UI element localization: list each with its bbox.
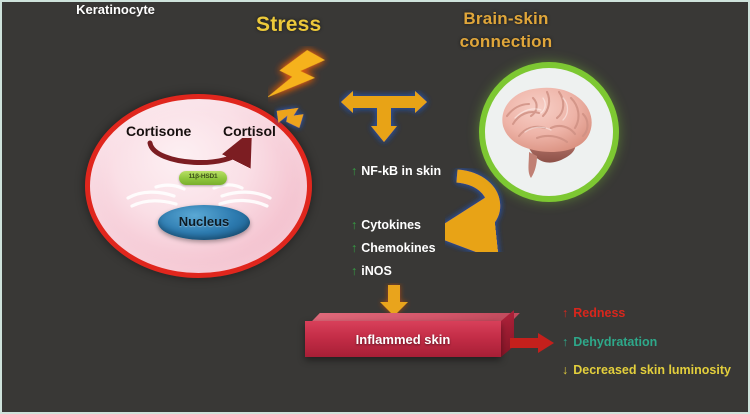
stress-title: Stress (256, 13, 321, 37)
outcome-redness: ↑Redness (562, 306, 625, 320)
hsd1-enzyme-label: 11β-HSD1 (179, 173, 227, 180)
brain-skin-connection-title: Brain-skin connection (426, 8, 586, 54)
cortisone-label: Cortisone (126, 123, 191, 139)
brain-skin-stress-diagram: Stress Brain-skin connection Cortisone C… (0, 0, 750, 414)
down-arrow-icon: ↓ (562, 363, 568, 377)
mediator-chemokines: ↑Chemokines (351, 241, 436, 255)
outcome-luminosity: ↓Decreased skin luminosity (562, 363, 731, 377)
up-arrow-icon: ↑ (351, 218, 357, 232)
up-arrow-icon: ↑ (562, 335, 568, 349)
up-arrow-icon: ↑ (351, 241, 357, 255)
mediator-chemokines-label: Chemokines (361, 241, 435, 255)
mediator-nfkb: ↑NF-kB in skin (351, 164, 441, 178)
brain-skin-connection-line1: Brain-skin (463, 9, 548, 28)
mediator-cytokines: ↑Cytokines (351, 218, 421, 232)
red-right-arrow-icon (510, 332, 556, 354)
t-shaped-tri-arrow-icon (339, 90, 435, 152)
mediator-nfkb-label: NF-kB in skin (361, 164, 441, 178)
mediator-inos-label: iNOS (361, 264, 392, 278)
outcome-redness-label: Redness (573, 306, 625, 320)
outcome-dehydration: ↑Dehydratation (562, 335, 657, 349)
mediator-inos: ↑iNOS (351, 264, 392, 278)
mediator-cytokines-label: Cytokines (361, 218, 421, 232)
keratinocyte-label: Keratinocyte (2, 2, 229, 17)
brain-icon (485, 68, 613, 196)
outcome-luminosity-label: Decreased skin luminosity (573, 363, 731, 377)
brain-medallion (479, 62, 619, 202)
inflamed-skin-label: Inflammed skin (305, 332, 501, 347)
nucleus-label: Nucleus (158, 214, 250, 229)
down-arrow-to-skin-icon (377, 283, 411, 317)
stress-into-cell-arrow-icon (274, 103, 312, 137)
brain-skin-connection-line2: connection (460, 32, 553, 51)
up-arrow-icon: ↑ (351, 264, 357, 278)
inflamed-skin-slab: Inflammed skin (305, 313, 515, 359)
up-arrow-icon: ↑ (562, 306, 568, 320)
up-arrow-icon: ↑ (351, 164, 357, 178)
outcome-dehydration-label: Dehydratation (573, 335, 657, 349)
